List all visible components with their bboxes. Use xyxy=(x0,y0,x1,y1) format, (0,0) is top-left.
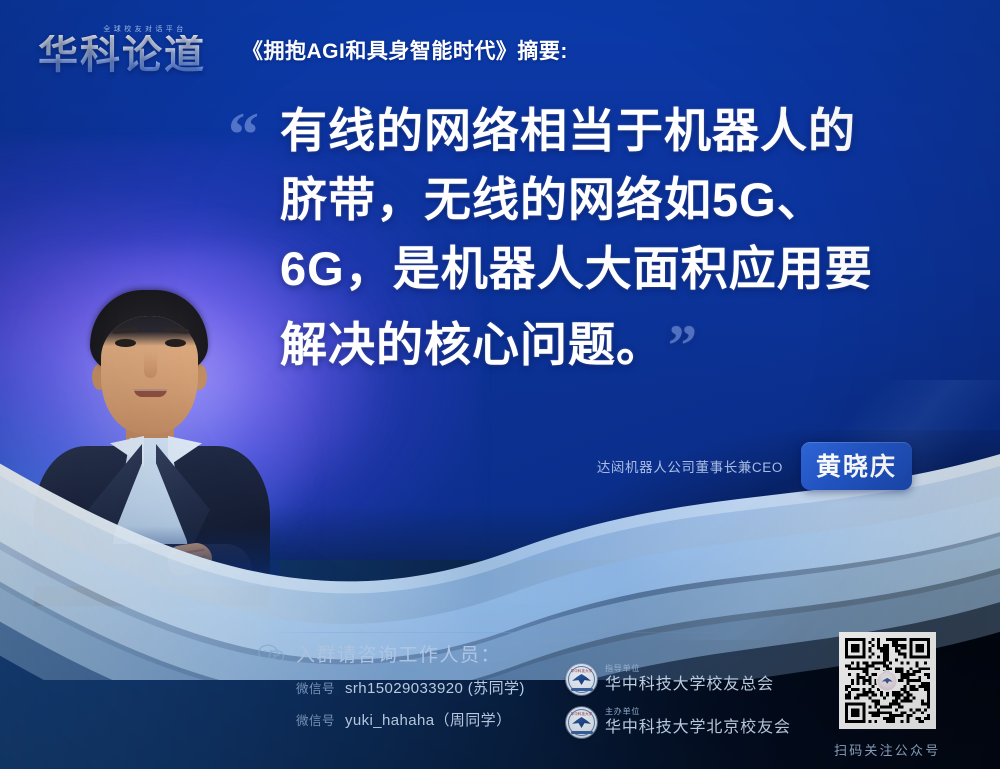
background-vignette xyxy=(0,0,1000,769)
poster-canvas: 全球校友对话平台 华科论道 《拥抱AGI和具身智能时代》摘要: “ 有线的网络相… xyxy=(0,0,1000,769)
